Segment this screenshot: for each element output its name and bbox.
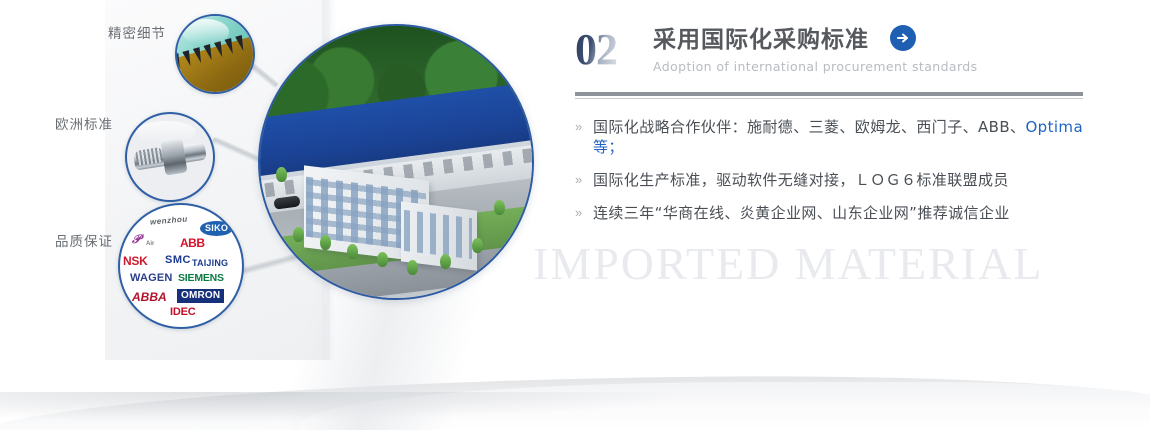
section-number: 02 <box>575 24 617 75</box>
logo-taijing: TAIJING <box>192 259 228 268</box>
tree <box>377 252 388 267</box>
tree <box>494 200 505 215</box>
glass-gloss <box>136 121 196 143</box>
logo-siko: SIKO <box>200 221 233 236</box>
list-item-text: 连续三年“华商在线、炎黄企业网、山东企业网”推荐诚信企业 <box>593 203 1010 223</box>
precision-detail-photo <box>175 14 255 94</box>
tree <box>472 238 483 253</box>
chevron-double-icon: » <box>575 203 593 223</box>
logo-siemens: SIEMENS <box>178 273 224 284</box>
tree <box>440 254 451 269</box>
title-block: 采用国际化采购标准 Adoption of international proc… <box>653 20 978 74</box>
arrow-right-icon[interactable] <box>890 25 916 51</box>
screw-nut <box>161 138 188 175</box>
bullet-list: » 国际化战略合作伙伴：施耐德、三菱、欧姆龙、西门子、ABB、Optima等； … <box>575 117 1095 223</box>
tree <box>320 235 331 250</box>
chevron-double-icon: » <box>575 170 593 190</box>
list-item: » 国际化战略合作伙伴：施耐德、三菱、欧姆龙、西门子、ABB、Optima等； <box>575 117 1095 157</box>
divider-thick <box>575 92 1083 96</box>
label-precision-detail: 精密细节 <box>108 22 166 42</box>
chevron-double-icon: » <box>575 117 593 137</box>
section-header: 02 采用国际化采购标准 Adoption of international p… <box>575 20 1095 84</box>
quality-assurance-logos: wenzhou SIKO 𝒫 Air ABB NSK SMC TAIJING W… <box>118 203 244 329</box>
logo-abba: ABBA <box>132 291 167 303</box>
page-title: 采用国际化采购标准 <box>653 20 978 54</box>
divider-thin <box>575 98 1083 99</box>
logo-p-air-sub: Air <box>146 241 154 247</box>
label-european-standard: 欧洲标准 <box>55 113 113 133</box>
page-title-text: 采用国际化采购标准 <box>653 27 869 53</box>
logo-abb: ABB <box>180 237 205 249</box>
logo-wenzhou: wenzhou <box>150 215 188 226</box>
page-subtitle: Adoption of international procurement st… <box>653 59 978 74</box>
list-item-text: 国际化战略合作伙伴：施耐德、三菱、欧姆龙、西门子、ABB、Optima等； <box>593 117 1095 157</box>
logo-smc: SMC <box>165 255 191 266</box>
tree <box>407 260 418 275</box>
logo-wagen: WAGEN <box>130 273 173 284</box>
watermark-text: IMPORTED MATERIAL <box>533 237 1133 290</box>
list-item: » 国际化生产标准，驱动软件无缝对接，ＬＯＧ６标准联盟成员 <box>575 170 1095 190</box>
factory-aerial-photo <box>258 24 534 300</box>
european-standard-photo <box>125 112 215 202</box>
logo-nsk: NSK <box>123 255 147 267</box>
office-annex-windows <box>404 209 472 258</box>
glass-gloss <box>182 19 229 45</box>
list-item-text-main: 国际化战略合作伙伴：施耐德、三菱、欧姆龙、西门子、ABB、 <box>593 118 1025 136</box>
logo-omron: OMRON <box>177 289 224 303</box>
tree <box>347 244 358 259</box>
logo-p-air: 𝒫 <box>132 233 141 245</box>
label-quality-assurance: 品质保证 <box>55 230 113 250</box>
logo-idec: IDEC <box>170 307 195 318</box>
list-item: » 连续三年“华商在线、炎黄企业网、山东企业网”推荐诚信企业 <box>575 203 1095 223</box>
slide-canvas: 精密细节 欧洲标准 品质保证 wenzhou SIKO 𝒫 Air ABB <box>0 0 1150 430</box>
tree <box>293 227 304 242</box>
list-item-text: 国际化生产标准，驱动软件无缝对接，ＬＯＧ６标准联盟成员 <box>593 170 1009 190</box>
content-column: 02 采用国际化采购标准 Adoption of international p… <box>575 20 1095 236</box>
